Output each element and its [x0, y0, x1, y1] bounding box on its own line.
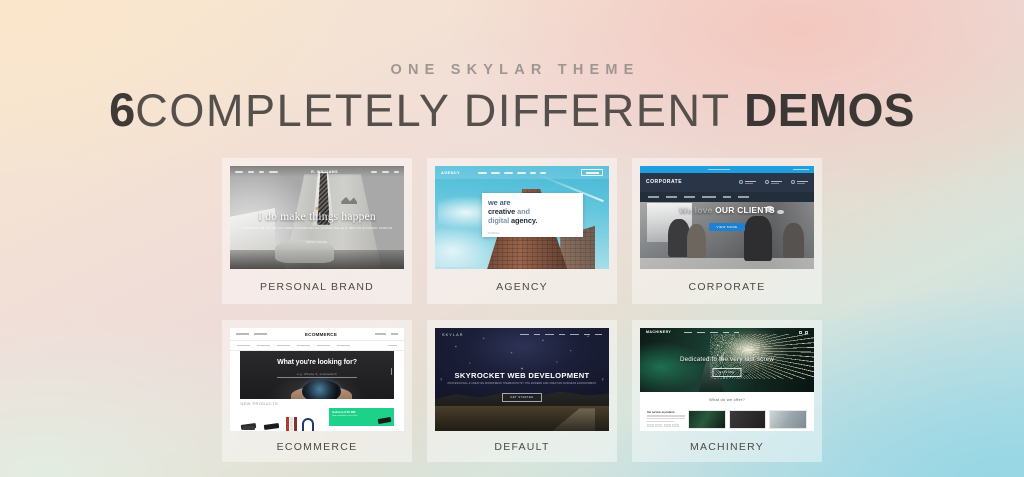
mc-menu-icon[interactable]: [805, 331, 808, 334]
ec-product-row: [240, 410, 324, 431]
ec-topbar-right[interactable]: [375, 333, 398, 335]
demo-card-corporate[interactable]: CORPORATE: [632, 158, 822, 304]
mc-nav-link[interactable]: [684, 332, 692, 334]
ec-logo: ECOMMERCE: [305, 332, 337, 337]
ag-headline-line3: digital agency.: [488, 216, 577, 226]
demo-label-ecommerce: ECOMMERCE: [230, 431, 404, 462]
headline-light: COMPLETELY DIFFERENT: [135, 85, 730, 136]
df-nav-link[interactable]: [559, 334, 565, 336]
cp-hero-dim: We love: [679, 205, 712, 215]
ec-section-title: NEW PRODUCTS: [240, 401, 278, 406]
cp-info-icon: [791, 180, 795, 184]
ec-search-input[interactable]: e.g. iPhone 6, smartwatch: [277, 372, 357, 378]
demos-showcase-page: ONE SKYLAR THEME 6COMPLETELY DIFFERENT D…: [0, 0, 1024, 477]
demo-card-ecommerce[interactable]: ECOMMERCE What you're looking for?: [222, 320, 412, 462]
demo-label-personal-brand: PERSONAL BRAND: [230, 269, 404, 304]
cp-desk: [640, 258, 814, 269]
ec-scrollbar[interactable]: [391, 368, 393, 375]
pb-hero-title: I do make things happen: [230, 211, 404, 223]
cp-hero-title: We love OUR CLIENTS: [640, 205, 814, 215]
demo-thumbnail-ecommerce[interactable]: ECOMMERCE What you're looking for?: [230, 328, 404, 431]
pb-navbar[interactable]: R. WILLIAMS: [230, 166, 404, 177]
ec-nav-link[interactable]: [317, 345, 330, 347]
ec-promo-product-image: [377, 417, 391, 424]
ec-hero-banner: What you're looking for? e.g. iPhone 6, …: [240, 351, 393, 399]
cp-subnav[interactable]: [640, 192, 814, 201]
cp-info-item: [765, 180, 782, 184]
df-nav-link[interactable]: [520, 334, 529, 336]
ec-topbar-link[interactable]: [254, 333, 267, 335]
demo-label-agency: AGENCY: [435, 269, 609, 304]
cp-nav-link[interactable]: [666, 196, 677, 198]
df-next-arrow-icon[interactable]: ›: [602, 377, 604, 383]
ec-nav-link[interactable]: [277, 345, 290, 347]
ag-nav-link[interactable]: [504, 172, 513, 174]
demo-card-default[interactable]: SKYLAR ✦ SKYROCKET WEB DE: [427, 320, 617, 462]
demo-label-default: DEFAULT: [435, 431, 609, 462]
ec-promo-sub: Now available in our shop: [332, 415, 390, 417]
df-nav-link[interactable]: [570, 334, 579, 336]
mc-nav-links[interactable]: [684, 332, 739, 334]
mc-green-glow: [640, 342, 706, 392]
pb-hero-block: I do make things happen LOREM IPSUM DOLO…: [230, 211, 404, 248]
ag-scroll-tag: SCROLL: [488, 232, 500, 235]
demo-thumbnail-corporate[interactable]: CORPORATE: [640, 166, 814, 269]
demo-thumbnail-agency[interactable]: AGENCY we are creative an: [435, 166, 609, 269]
mc-hero-banner: MACHINERY: [640, 328, 814, 392]
df-nav-link[interactable]: [595, 334, 602, 336]
eyebrow-text: ONE SKYLAR THEME: [0, 62, 1024, 78]
df-logo: SKYLAR: [442, 333, 464, 337]
cp-info-text: [797, 181, 808, 185]
ec-camera-lens: [302, 380, 342, 399]
cp-topbar-social[interactable]: [793, 169, 809, 171]
mc-offer-section: What do we offer? Our services & product…: [640, 392, 814, 431]
mc-nav-icons[interactable]: [799, 331, 808, 334]
ag-nav-links[interactable]: [478, 172, 546, 174]
df-hero-block: SKYROCKET WEB DEVELOPMENT PROFESSIONAL &…: [435, 371, 609, 403]
cp-info-icon: [739, 180, 743, 184]
ag-nav-link[interactable]: [540, 172, 546, 174]
pb-nav-link[interactable]: [259, 171, 264, 173]
df-navbar[interactable]: SKYLAR: [435, 328, 609, 341]
demo-label-machinery: MACHINERY: [640, 431, 814, 462]
ag-logo: AGENCY: [441, 170, 460, 175]
ec-promo-title: GeForce GTX 980: [332, 410, 390, 414]
cp-header: CORPORATE: [640, 173, 814, 193]
ag-cta-label: [586, 172, 599, 174]
ag-headline-and: and: [517, 207, 530, 216]
ag-nav-link[interactable]: [517, 172, 526, 174]
df-hero-title: SKYROCKET WEB DEVELOPMENT: [435, 371, 609, 380]
mc-nav-link[interactable]: [710, 332, 718, 334]
cp-info-text: [745, 181, 756, 185]
mc-offer-tile[interactable]: [688, 410, 726, 430]
mc-offer-tags[interactable]: [647, 424, 685, 427]
ag-headline-line1: we are: [488, 198, 577, 207]
ec-nav-link[interactable]: [237, 345, 250, 347]
mc-nav-link[interactable]: [734, 332, 739, 334]
ag-headline-creative: creative: [488, 207, 515, 216]
ec-navbar[interactable]: [230, 341, 404, 350]
mc-offer-tiles: Our services & products: [647, 410, 807, 430]
mc-hero-button[interactable]: EXPLORE: [712, 368, 741, 377]
mc-section-title: What do we offer?: [640, 397, 814, 402]
headline-bold: DEMOS: [744, 84, 915, 136]
cp-nav-link[interactable]: [738, 196, 749, 198]
ag-nav-link[interactable]: [478, 172, 487, 174]
ec-hero-title: What you're looking for?: [240, 359, 393, 366]
mc-offer-textblock: Our services & products: [647, 410, 685, 430]
ec-topbar-link[interactable]: [236, 333, 249, 335]
demo-grid: R. WILLIAMS I do make things happen LORE…: [222, 158, 822, 462]
demo-thumbnail-machinery[interactable]: MACHINERY: [640, 328, 814, 431]
cp-hero-block: We love OUR CLIENTS VIEW MORE: [640, 205, 814, 233]
df-nav-link[interactable]: [545, 334, 554, 336]
mc-offer-list-title: Our services & products: [647, 411, 685, 414]
ag-headline-agency: agency.: [511, 216, 537, 225]
pb-hero-sub: LOREM IPSUM DOLOR SIT AMET, CONSECTETUR …: [230, 226, 404, 230]
mc-navbar[interactable]: MACHINERY: [640, 328, 814, 337]
df-hero-sub: PROFESSIONAL & CREATIVE WORDPRESS THEME …: [435, 383, 609, 385]
demo-thumbnail-default[interactable]: SKYLAR ✦ SKYROCKET WEB DE: [435, 328, 609, 431]
ag-headline-digital: digital: [488, 216, 509, 225]
mc-nav-link[interactable]: [697, 332, 705, 334]
cp-hero-button[interactable]: VIEW MORE: [709, 223, 744, 231]
df-nav-link[interactable]: [534, 334, 540, 336]
cp-info-group: [739, 180, 808, 184]
mc-hero-title: Dedicated to the very last screw: [640, 356, 814, 363]
pb-logo: R. WILLIAMS: [311, 170, 338, 174]
demo-card-agency[interactable]: AGENCY we are creative an: [427, 158, 617, 304]
demo-label-corporate: CORPORATE: [640, 269, 814, 304]
demo-card-machinery[interactable]: MACHINERY: [632, 320, 822, 462]
cp-nav-link[interactable]: [684, 196, 695, 198]
ag-headline-box: we are creative and digital agency. SCRO…: [482, 193, 583, 237]
df-nav-links[interactable]: [520, 334, 602, 336]
cp-nav-link[interactable]: [723, 196, 731, 198]
cp-info-text: [771, 181, 782, 185]
ec-topbar[interactable]: ECOMMERCE: [230, 328, 404, 341]
ag-headline-line2: creative and: [488, 207, 577, 217]
df-hero-button[interactable]: GET STARTED: [502, 393, 541, 402]
pb-nav-link[interactable]: [371, 171, 377, 173]
ag-cta-button[interactable]: [581, 169, 603, 176]
cp-info-item: [739, 180, 756, 184]
ag-navbar[interactable]: AGENCY: [435, 166, 609, 179]
cp-info-item: [791, 180, 808, 184]
headline-number: 6: [109, 83, 135, 136]
cp-logo: CORPORATE: [646, 179, 682, 185]
ag-nav-link[interactable]: [530, 172, 536, 174]
cp-hero-bright: OUR CLIENTS: [715, 205, 775, 215]
ec-cart-link[interactable]: [391, 333, 398, 335]
demo-thumbnail-personal-brand[interactable]: R. WILLIAMS I do make things happen LORE…: [230, 166, 404, 269]
ec-topbar-left[interactable]: [236, 333, 267, 335]
ec-promo-banner[interactable]: GeForce GTX 980 Now available in our sho…: [329, 408, 393, 426]
ec-account-link[interactable]: [375, 333, 386, 335]
mc-offer-tile[interactable]: [769, 410, 807, 430]
df-nav-link[interactable]: [584, 334, 590, 336]
ec-nav-link[interactable]: [257, 345, 270, 347]
page-title: 6COMPLETELY DIFFERENT DEMOS: [0, 84, 1024, 137]
ec-product-item[interactable]: [286, 417, 297, 431]
ec-product-item[interactable]: [263, 415, 281, 431]
ag-nav-link[interactable]: [491, 172, 500, 174]
pb-hero-button[interactable]: READ MORE: [306, 241, 327, 244]
pb-nav-link[interactable]: [248, 171, 254, 173]
mc-logo: MACHINERY: [646, 330, 671, 334]
df-prev-arrow-icon[interactable]: ‹: [440, 377, 442, 383]
cp-topbar-text: [708, 169, 730, 171]
mc-offer-tile[interactable]: [729, 410, 767, 430]
pb-nav-link[interactable]: [235, 171, 243, 173]
cp-topbar: [640, 166, 814, 173]
cp-info-icon: [765, 180, 769, 184]
mc-nav-link[interactable]: [723, 332, 729, 334]
pb-nav-link[interactable]: [394, 171, 399, 173]
demo-card-personal-brand[interactable]: R. WILLIAMS I do make things happen LORE…: [222, 158, 412, 304]
cp-nav-link[interactable]: [702, 196, 716, 198]
ec-nav-link[interactable]: [388, 345, 397, 347]
ec-product-item[interactable]: [240, 415, 258, 431]
ec-promo-button[interactable]: SHOP: [332, 427, 346, 431]
mc-search-icon[interactable]: [799, 331, 802, 334]
ec-nav-link[interactable]: [297, 345, 310, 347]
pb-accent-dot: [316, 207, 319, 210]
cp-nav-link[interactable]: [648, 196, 659, 198]
ec-product-item[interactable]: [302, 418, 314, 431]
pb-nav-link[interactable]: [382, 171, 389, 173]
pb-nav-link[interactable]: [269, 171, 278, 173]
ec-nav-link[interactable]: [337, 345, 350, 347]
